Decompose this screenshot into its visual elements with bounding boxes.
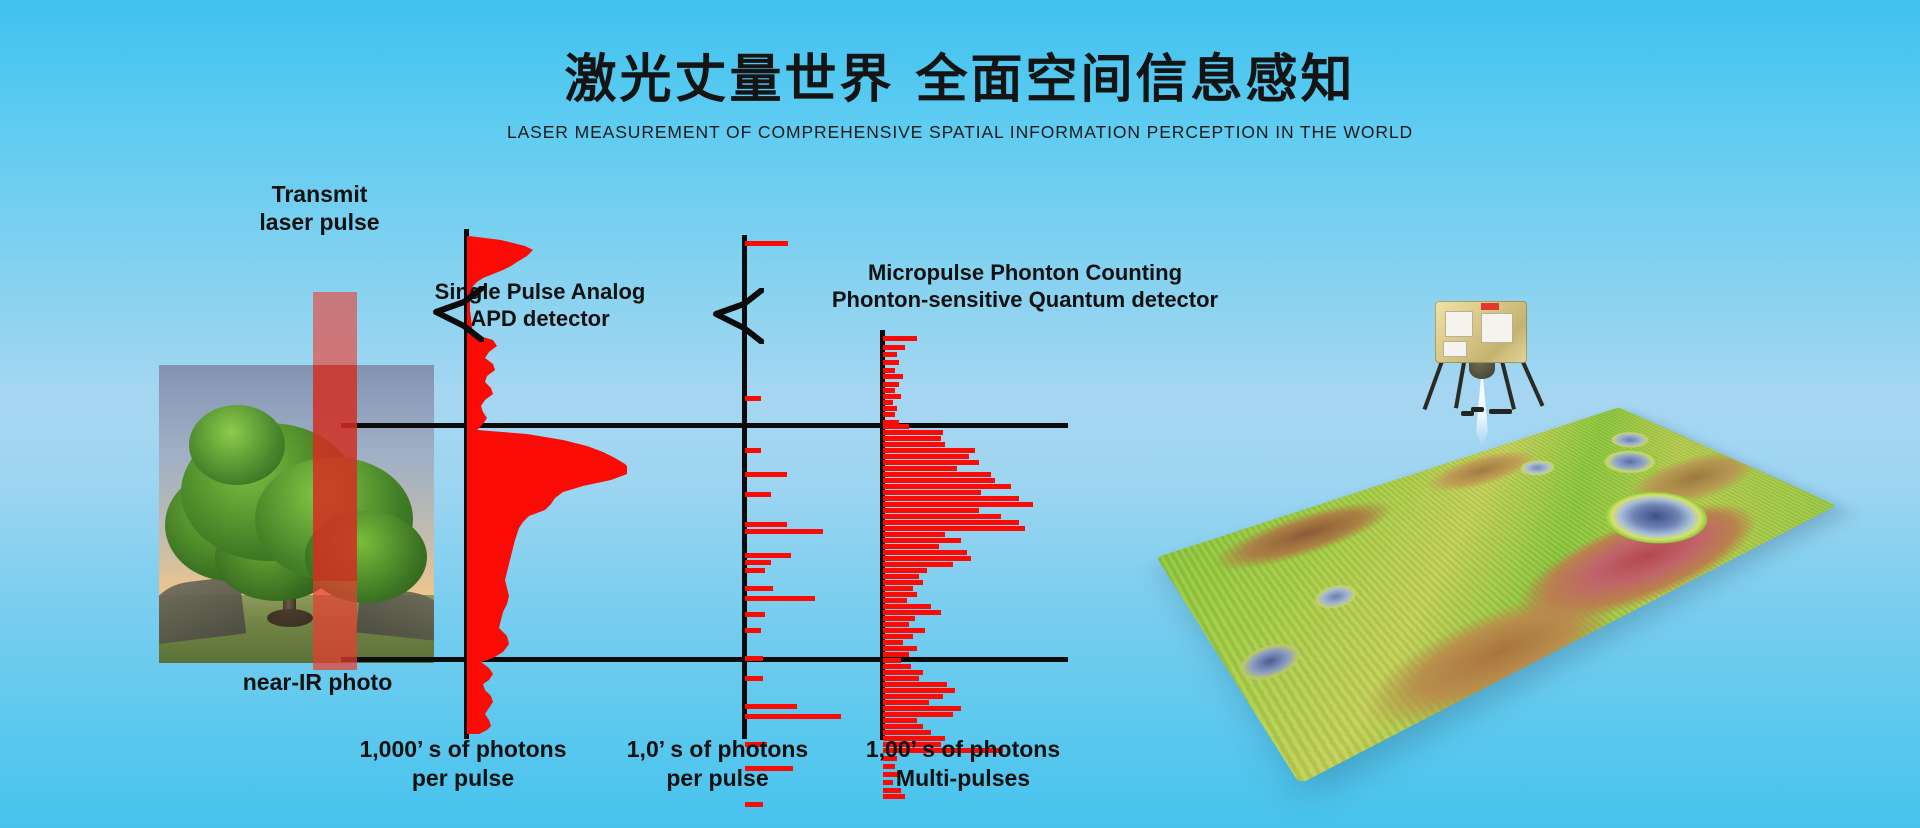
infographic-stage: 激光丈量世界 全面空间信息感知 LASER MEASUREMENT OF COM… [0, 0, 1920, 828]
laser-beam-core [313, 365, 357, 581]
photon-return-bar [883, 484, 1011, 489]
photon-return-bar [883, 610, 941, 615]
photon-return-bar [883, 700, 929, 705]
photon-return-bar [883, 508, 979, 513]
near-ir-photo [159, 365, 434, 663]
photon-return-bar [883, 514, 1001, 519]
photon-return-bar [883, 496, 1019, 501]
lander-panel [1443, 341, 1467, 357]
photon-return-bar [883, 448, 975, 453]
photon-return-bar [883, 412, 895, 417]
photon-return-bar [883, 360, 899, 365]
photon-return-bar [883, 436, 941, 441]
laser-beam [313, 292, 357, 670]
photon-return-bar [745, 612, 765, 617]
photon-return-bar [883, 532, 945, 537]
lidar-terrain-visual [1185, 245, 1885, 725]
lander-panel [1445, 311, 1473, 337]
photon-return-bar [883, 442, 945, 447]
panel1-analog-waveform [467, 225, 627, 745]
lander-leg [1454, 357, 1467, 409]
photon-return-bar [883, 628, 925, 633]
photon-return-bar [745, 628, 761, 633]
photon-return-bar [745, 560, 771, 565]
photon-return-bar [883, 374, 903, 379]
photon-return-bar [883, 520, 1019, 525]
lander-foot [1499, 409, 1512, 414]
photon-return-bar [883, 586, 913, 591]
photon-return-bar [883, 646, 917, 651]
photon-return-bar [883, 352, 897, 357]
photon-return-bar [883, 568, 927, 573]
photon-return-bar [883, 622, 909, 627]
panel3-caption: 1,00’ s of photons Multi-pulses [838, 735, 1088, 793]
lander-panel [1481, 313, 1513, 343]
panel3-photon-bars [883, 0, 1103, 828]
photon-return-bar [883, 616, 915, 621]
photon-return-bar [745, 714, 841, 719]
photon-return-bar [883, 682, 947, 687]
photon-return-bar [883, 712, 953, 717]
photon-return-bar [883, 550, 967, 555]
photon-return-bar [883, 592, 917, 597]
photon-return-bar [883, 658, 901, 663]
panel1-axis-break-icon [424, 286, 484, 342]
lander-foot [1471, 407, 1484, 412]
photon-return-bar [745, 241, 788, 246]
photon-return-bar [745, 568, 765, 573]
photon-return-bar [883, 794, 905, 799]
photon-return-bar [883, 724, 923, 729]
photon-return-bar [883, 382, 899, 387]
photon-return-bar [745, 472, 787, 477]
photon-return-bar [883, 368, 895, 373]
photon-return-bar [883, 706, 961, 711]
photon-return-bar [745, 522, 787, 527]
photon-return-bar [883, 694, 943, 699]
photon-return-bar [883, 460, 979, 465]
photon-return-bar [883, 526, 1025, 531]
photon-return-bar [883, 604, 931, 609]
photon-return-bar [883, 670, 923, 675]
lander-marker [1481, 303, 1499, 310]
photon-return-bar [883, 388, 895, 393]
transmit-laser-pulse-label: Transmit laser pulse [232, 180, 407, 236]
lander-leg [1499, 357, 1516, 410]
photon-return-bar [745, 529, 823, 534]
photon-return-bar [883, 424, 909, 429]
photon-return-bar [883, 406, 897, 411]
photon-return-bar [745, 396, 761, 401]
photon-return-bar [883, 676, 919, 681]
photo-tree-canopy [189, 405, 285, 485]
photon-return-bar [883, 472, 991, 477]
photon-return-bar [883, 478, 995, 483]
photon-return-bar [883, 652, 909, 657]
photon-return-bar [745, 656, 763, 661]
photon-return-bar [883, 556, 971, 561]
photon-return-bar [883, 430, 943, 435]
photon-return-bar [745, 596, 815, 601]
photon-return-bar [745, 586, 773, 591]
photon-return-bar [883, 345, 905, 350]
photon-return-bar [745, 553, 791, 558]
photon-return-bar [883, 718, 917, 723]
near-ir-photo-label: near-IR photo [180, 668, 455, 696]
panel2-caption: 1,0’ s of photons per pulse [595, 735, 840, 793]
panel2-axis-break-icon [704, 288, 764, 344]
photon-return-bar [883, 562, 953, 567]
photon-return-bar [883, 394, 901, 399]
photon-return-bar [745, 704, 797, 709]
photon-return-bar [745, 492, 771, 497]
panel1-caption: 1,000’ s of photons per pulse [318, 735, 608, 793]
photon-return-bar [883, 634, 913, 639]
descent-plume [1476, 377, 1488, 447]
photon-return-bar [883, 544, 939, 549]
photon-return-bar [883, 490, 981, 495]
elevation-terrain-surface [1157, 407, 1837, 784]
photon-return-bar [883, 336, 917, 341]
photon-return-bar [883, 574, 919, 579]
photon-return-bar [883, 598, 907, 603]
photon-return-bar [745, 802, 763, 807]
photon-return-bar [745, 676, 763, 681]
photon-return-bar [883, 466, 957, 471]
photon-return-bar [883, 502, 1033, 507]
photon-return-bar [883, 454, 969, 459]
photon-return-bar [883, 400, 893, 405]
photon-return-bar [883, 538, 961, 543]
photon-return-bar [883, 640, 903, 645]
photon-return-bar [745, 448, 761, 453]
photon-return-bar [883, 664, 911, 669]
lunar-lander [1421, 301, 1541, 431]
photon-return-bar [883, 580, 923, 585]
photon-return-bar [883, 688, 955, 693]
